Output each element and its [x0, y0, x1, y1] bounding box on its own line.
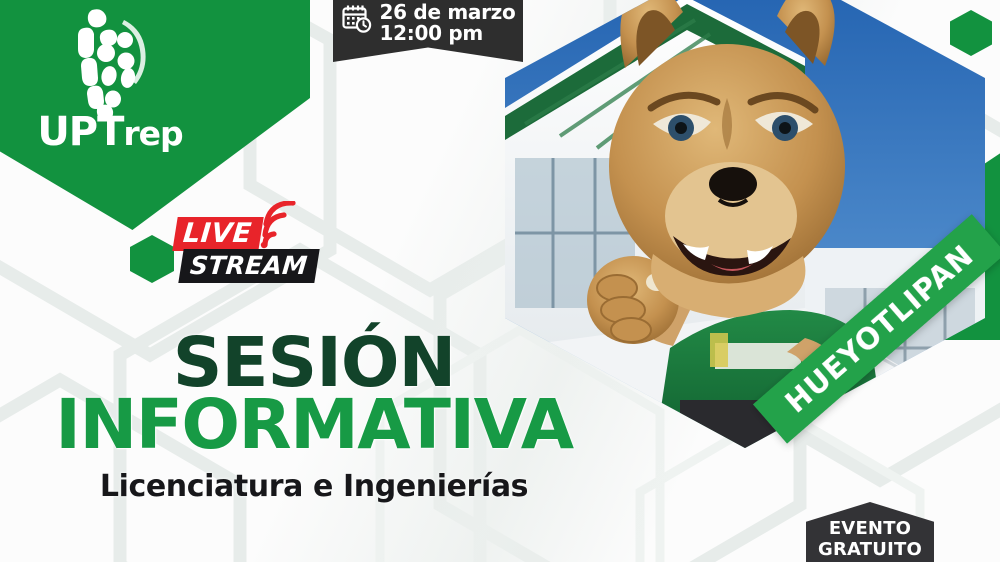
broadcast-waves-icon	[255, 201, 309, 249]
logo-text-lower: rep	[123, 114, 182, 153]
free-badge-line-1: EVENTO	[829, 518, 911, 539]
free-badge-line-2: GRATUITO	[818, 539, 922, 560]
headline-block: SESIÓN INFORMATIVA Licenciatura e Ingeni…	[44, 330, 584, 504]
headline-subtitle: Licenciatura e Ingenierías	[44, 469, 584, 504]
live-label: LIVE	[172, 217, 263, 251]
event-time: 12:00 pm	[380, 23, 516, 44]
live-stream-badge: LIVE STREAM	[175, 213, 310, 285]
logo-text-upper: UPT	[37, 109, 123, 155]
stream-label: STREAM	[178, 249, 320, 283]
uptrep-globe-mosaic-icon	[62, 6, 158, 116]
uptrep-wordmark: UPTrep	[37, 112, 182, 152]
calendar-clock-icon	[341, 3, 373, 35]
event-poster: UPTrep 26 de marzo 12:00 pm	[0, 0, 1000, 562]
uptrep-logo: UPTrep	[30, 6, 190, 171]
event-date: 26 de marzo	[380, 2, 516, 23]
headline-line-2: INFORMATIVA	[44, 392, 584, 460]
